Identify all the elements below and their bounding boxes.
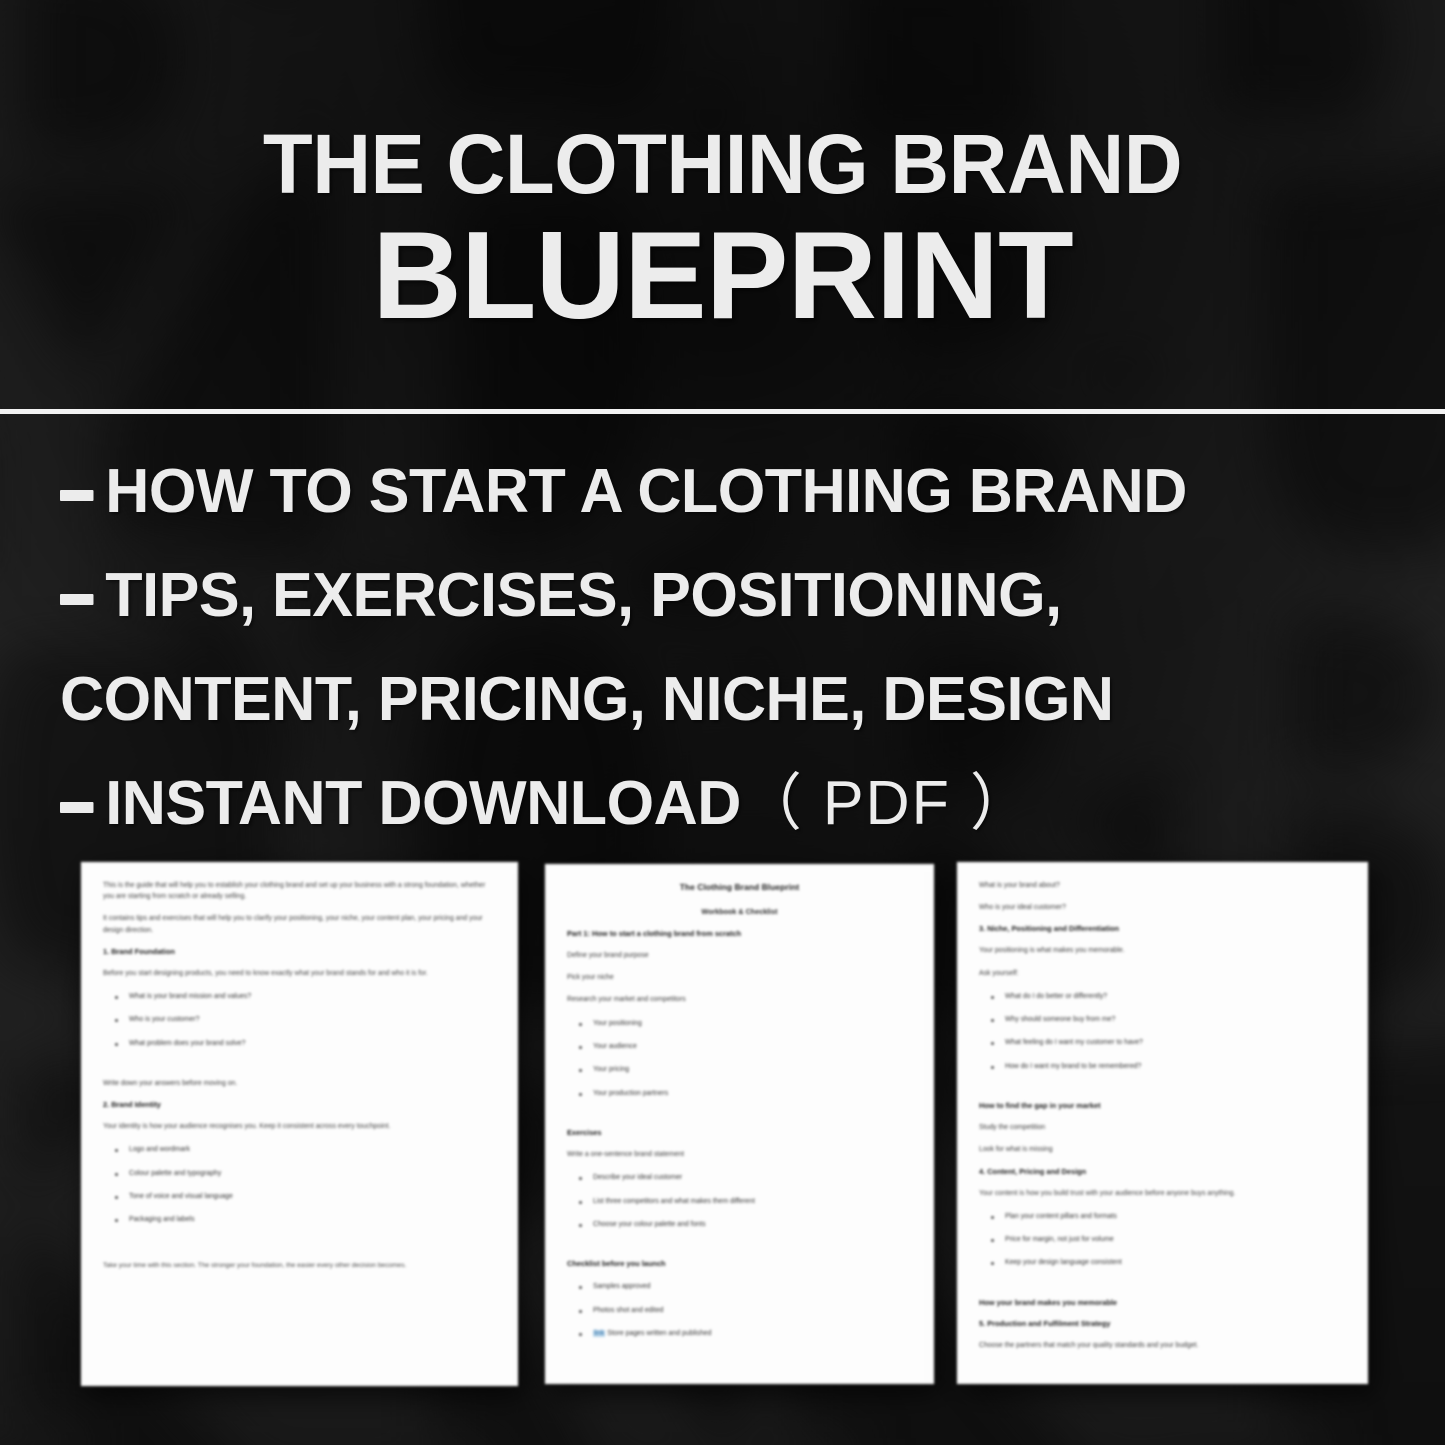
doc-list-item: Your positioning [593,1019,912,1029]
feature-list-item: HOW TO START A CLOTHING BRAND [60,440,1370,544]
doc-list-item-text: Store pages written and published [607,1330,711,1337]
feature-list: HOW TO START A CLOTHING BRAND TIPS, EXER… [60,440,1390,856]
doc-heading: Exercises [567,1128,912,1138]
doc-paragraph: Ask yourself: [979,968,1346,979]
doc-list-item: Logo and wordmark [129,1145,496,1155]
doc-list-item: Your audience [593,1042,912,1052]
doc-heading: 5. Production and Fulfilment Strategy [979,1319,1346,1329]
doc-paragraph: Choose the partners that match your qual… [979,1340,1346,1351]
dash-icon [60,594,99,605]
format-badge: （ PDF ） [741,769,1033,838]
doc-list: Plan your content pillars and formats Pr… [979,1212,1346,1269]
doc-paragraph: Write down your answers before moving on… [103,1078,496,1089]
feature-list-item: TIPS, EXERCISES, POSITIONING, [60,544,1370,648]
doc-footer-note: Take your time with this section. The st… [103,1261,496,1272]
feature-label: HOW TO START A CLOTHING BRAND [105,457,1186,526]
doc-list-item: What feeling do I want my customer to ha… [1005,1038,1346,1048]
doc-paragraph: Research your market and competitors [567,994,912,1005]
doc-paragraph: What is your brand about? [979,880,1346,891]
doc-list-item: What problem does your brand solve? [129,1039,496,1049]
doc-list-item: Price for margin, not just for volume [1005,1235,1346,1245]
doc-paragraph: Define your brand purpose [567,950,912,961]
doc-list-item: Your production partners [593,1089,912,1099]
doc-list: What is your brand mission and values? W… [103,992,496,1049]
doc-paragraph: Your positioning is what makes you memor… [979,945,1346,956]
doc-list-item: Who is your customer? [129,1015,496,1025]
doc-heading: 2. Brand Identity [103,1100,496,1110]
doc-list-item: Plan your content pillars and formats [1005,1212,1346,1222]
feature-label: INSTANT DOWNLOAD [105,769,741,838]
doc-list-item: Keep your design language consistent [1005,1258,1346,1268]
poster-header: THE CLOTHING BRAND BLUEPRINT [0,0,1445,412]
feature-list-item-continuation: CONTENT, PRICING, NICHE, DESIGN [60,648,1370,752]
doc-paragraph: Who is your ideal customer? [979,902,1346,913]
doc-heading: Part 1: How to start a clothing brand fr… [567,929,912,939]
doc-list: Samples approved Photos shot and edited … [567,1282,912,1339]
doc-list-item: Colour palette and typography [129,1169,496,1179]
doc-heading: How your brand makes you memorable [979,1298,1346,1308]
page-title-primary: THE CLOTHING BRAND [22,116,1424,213]
document-preview-page-2[interactable]: The Clothing Brand Blueprint Workbook & … [545,864,934,1384]
document-preview-page-1[interactable]: This is the guide that will help you to … [81,862,518,1386]
doc-paragraph: Look for what is missing [979,1144,1346,1155]
doc-subtitle: Workbook & Checklist [567,907,912,916]
doc-paragraph: This is the guide that will help you to … [103,880,496,902]
doc-title: The Clothing Brand Blueprint [567,882,912,892]
doc-paragraph: Study the competition [979,1122,1346,1133]
doc-list-item: What is your brand mission and values? [129,992,496,1002]
doc-list-item: Samples approved [593,1282,912,1292]
doc-paragraph: Write a one-sentence brand statement [567,1149,912,1160]
doc-list-item: Tone of voice and visual language [129,1192,496,1202]
doc-heading: 1. Brand Foundation [103,947,496,957]
doc-paragraph: Your content is how you build trust with… [979,1188,1346,1199]
doc-list-item: List three competitors and what makes th… [593,1197,912,1207]
doc-list-item: How do I want my brand to be remembered? [1005,1062,1346,1072]
doc-list-item: What do I do better or differently? [1005,992,1346,1002]
doc-heading: 4. Content, Pricing and Design [979,1167,1346,1177]
doc-list-item: Choose your colour palette and fonts [593,1220,912,1230]
doc-list: Logo and wordmark Colour palette and typ… [103,1145,496,1225]
doc-list-item: Photos shot and edited [593,1306,912,1316]
doc-list-item: Your pricing [593,1065,912,1075]
feature-label: CONTENT, PRICING, NICHE, DESIGN [60,665,1114,734]
doc-list-item: link Store pages written and published [593,1329,912,1339]
document-preview-page-3[interactable]: What is your brand about? Who is your id… [957,862,1368,1384]
doc-paragraph: Pick your niche [567,972,912,983]
doc-paragraph: Before you start designing products, you… [103,968,496,979]
poster-canvas: B U H B Y D B U C O R B K R N I THE CLOT… [0,0,1445,1445]
doc-list: What do I do better or differently? Why … [979,992,1346,1072]
doc-list: Your positioning Your audience Your pric… [567,1019,912,1099]
dash-icon [60,802,99,813]
doc-list-item: Describe your ideal customer [593,1173,912,1183]
feature-label: TIPS, EXERCISES, POSITIONING, [105,561,1061,630]
doc-list-item: Why should someone buy from me? [1005,1015,1346,1025]
doc-heading: How to find the gap in your market [979,1101,1346,1111]
doc-list-item: Packaging and labels [129,1215,496,1225]
doc-list: Describe your ideal customer List three … [567,1173,912,1230]
doc-heading: Checklist before you launch [567,1259,912,1269]
document-preview-gallery: This is the guide that will help you to … [0,862,1445,1386]
header-divider [0,409,1445,414]
doc-paragraph: Your identity is how your audience recog… [103,1121,496,1132]
dash-icon [60,490,99,501]
doc-inline-link[interactable]: link [593,1330,605,1337]
page-title-secondary: BLUEPRINT [0,205,1445,347]
doc-heading: 3. Niche, Positioning and Differentiatio… [979,924,1346,934]
feature-list-item: INSTANT DOWNLOAD（ PDF ） [60,752,1370,856]
doc-paragraph: It contains tips and exercises that will… [103,913,496,935]
